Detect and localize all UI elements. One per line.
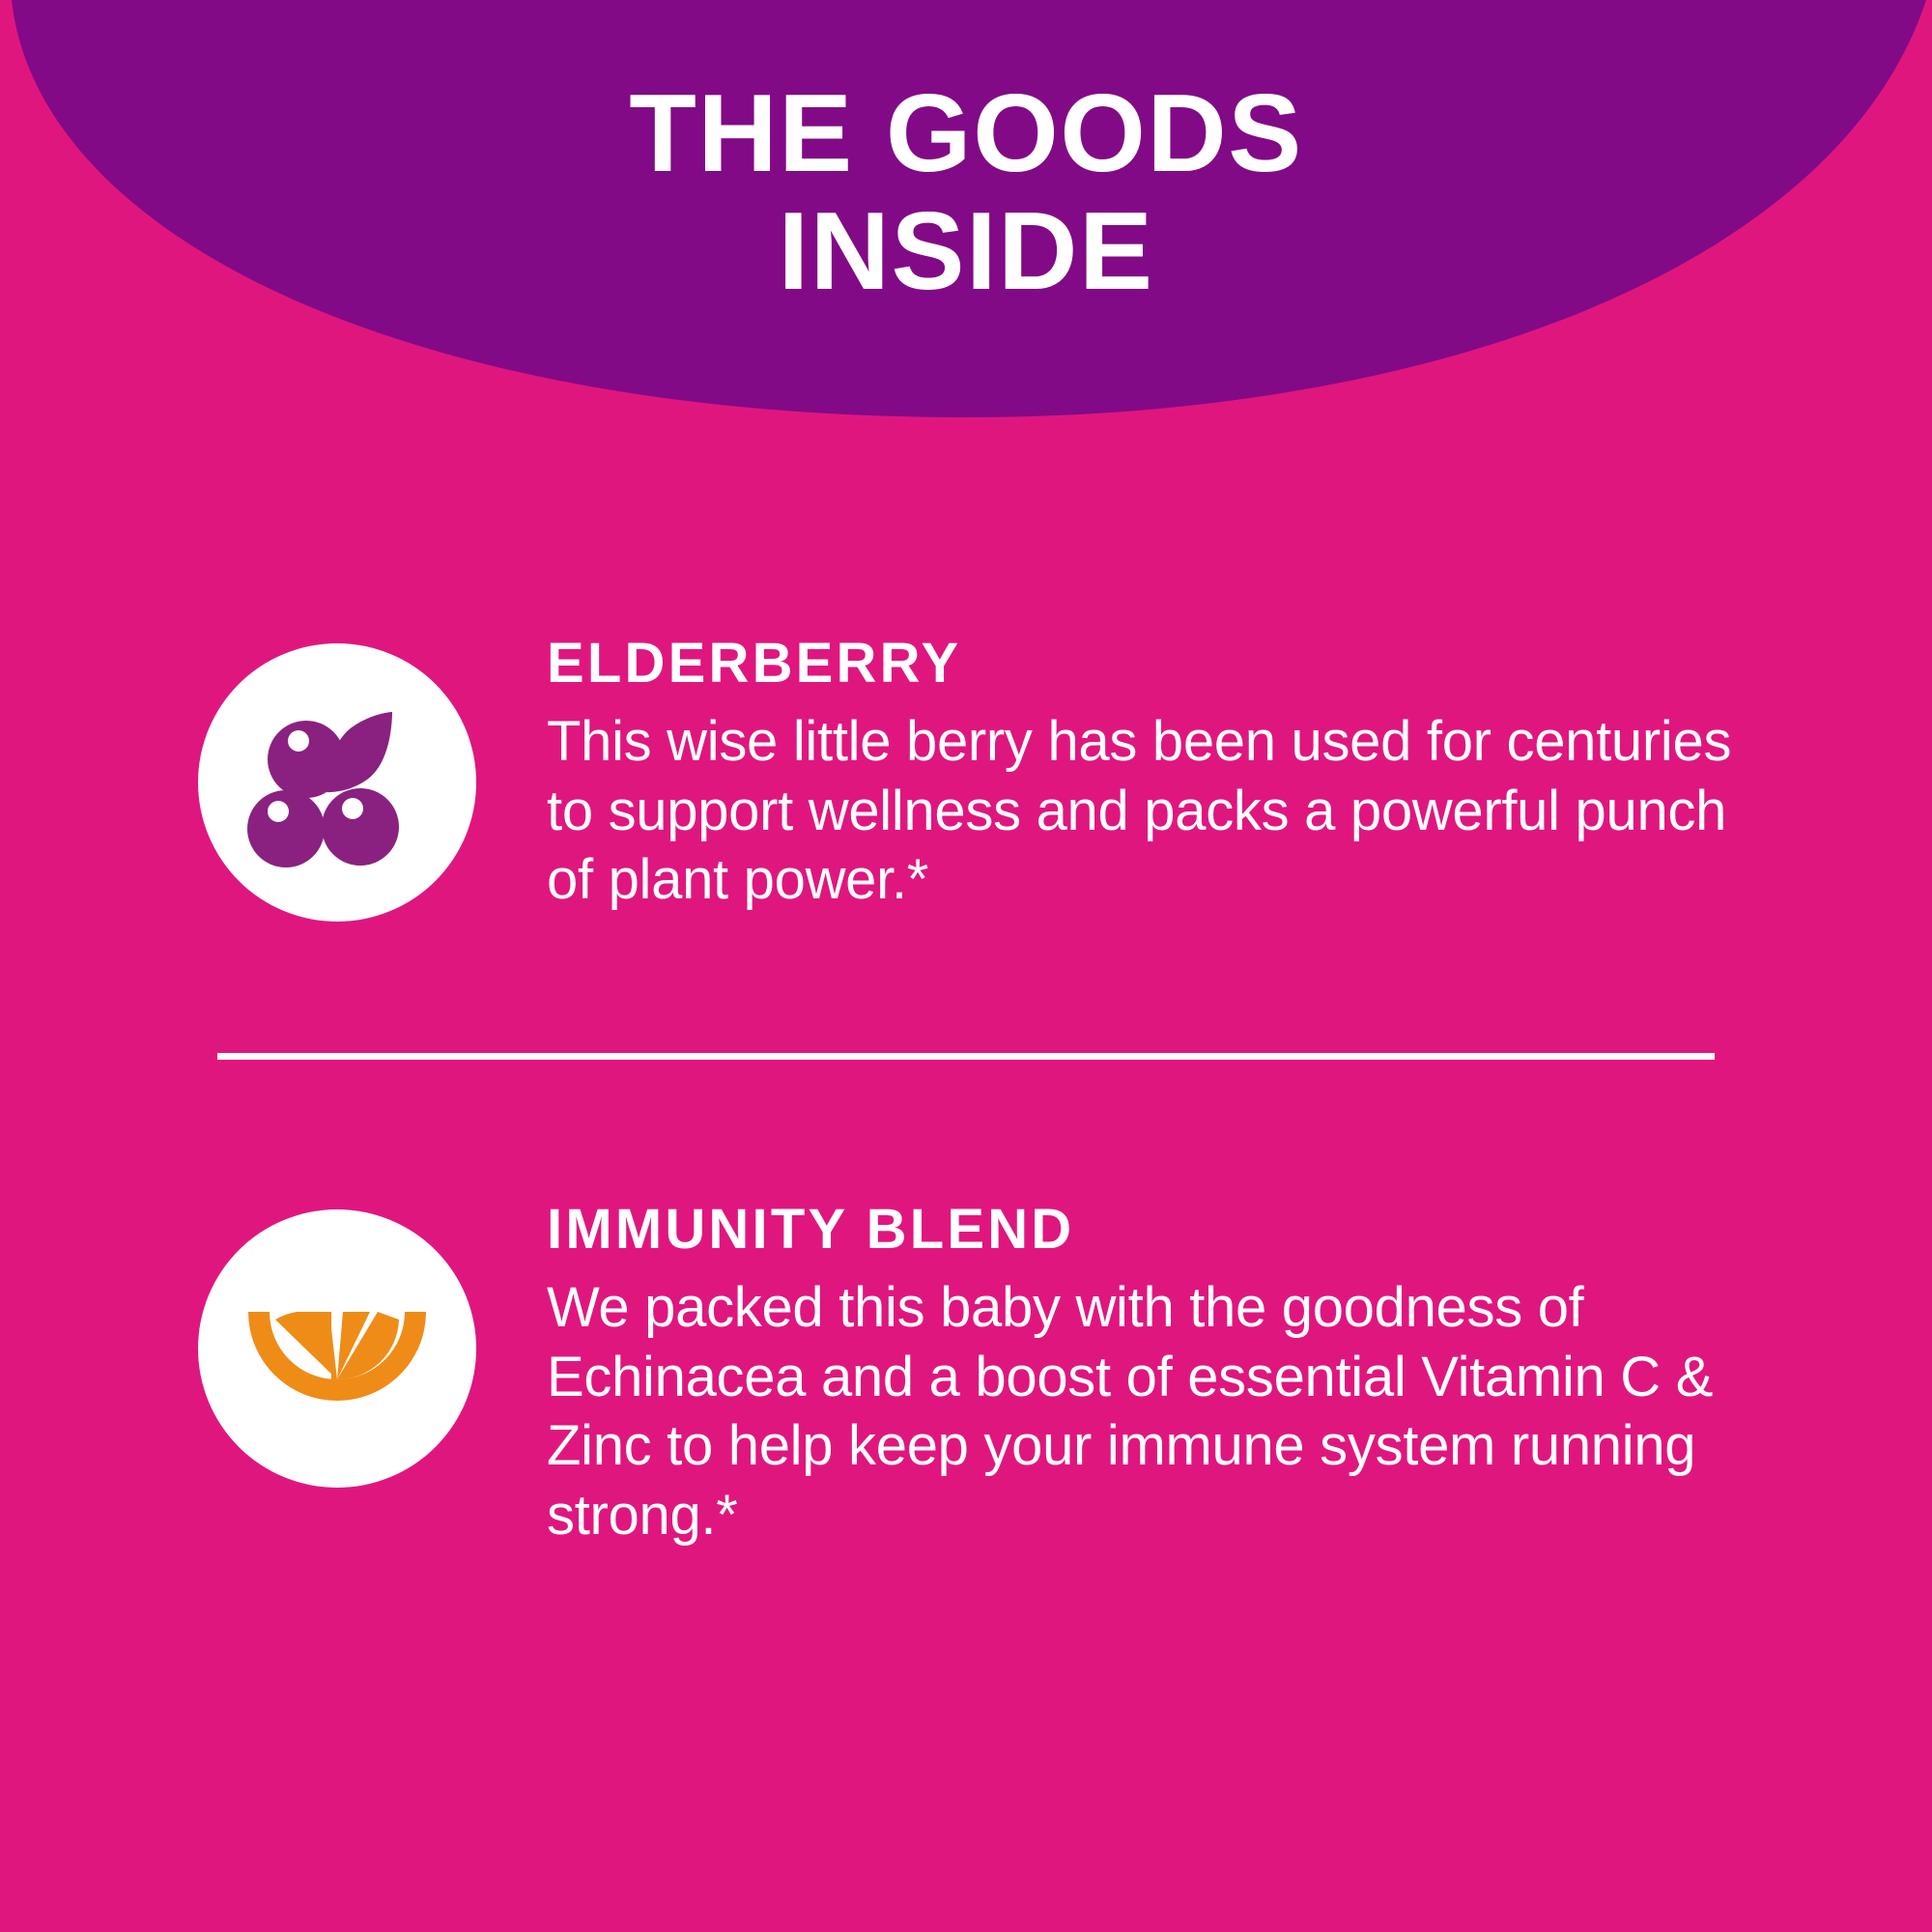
divider-container [0, 1053, 1932, 1054]
elderberry-icon [241, 686, 434, 879]
elderberry-icon-badge [198, 643, 476, 922]
page-title: THE GOODS INSIDE [0, 75, 1932, 311]
elderberry-body: This wise little berry has been used for… [547, 707, 1764, 915]
page-title-line-2: INSIDE [0, 193, 1932, 311]
orange-slice-icon [241, 1252, 434, 1445]
spacer-below-divider [0, 1054, 1932, 1184]
elderberry-text-block: ELDERBERRY This wise little berry has be… [476, 618, 1932, 915]
benefit-row-immunity-blend: IMMUNITY BLEND We packed this baby with … [0, 1184, 1932, 1550]
immunity-blend-heading: IMMUNITY BLEND [547, 1202, 1826, 1258]
immunity-blend-text-block: IMMUNITY BLEND We packed this baby with … [476, 1184, 1932, 1550]
orange-slice-icon-badge [198, 1209, 476, 1488]
benefit-row-elderberry: ELDERBERRY This wise little berry has be… [0, 618, 1932, 922]
immunity-blend-body: We packed this baby with the goodness of… [547, 1273, 1803, 1550]
section-divider [217, 1053, 1715, 1060]
benefits-list: ELDERBERRY This wise little berry has be… [0, 618, 1932, 1550]
page-title-line-1: THE GOODS [0, 75, 1932, 193]
spacer-above-divider [0, 922, 1932, 1053]
product-benefits-poster: THE GOODS INSIDE [0, 0, 1932, 1932]
elderberry-heading: ELDERBERRY [547, 636, 1826, 692]
